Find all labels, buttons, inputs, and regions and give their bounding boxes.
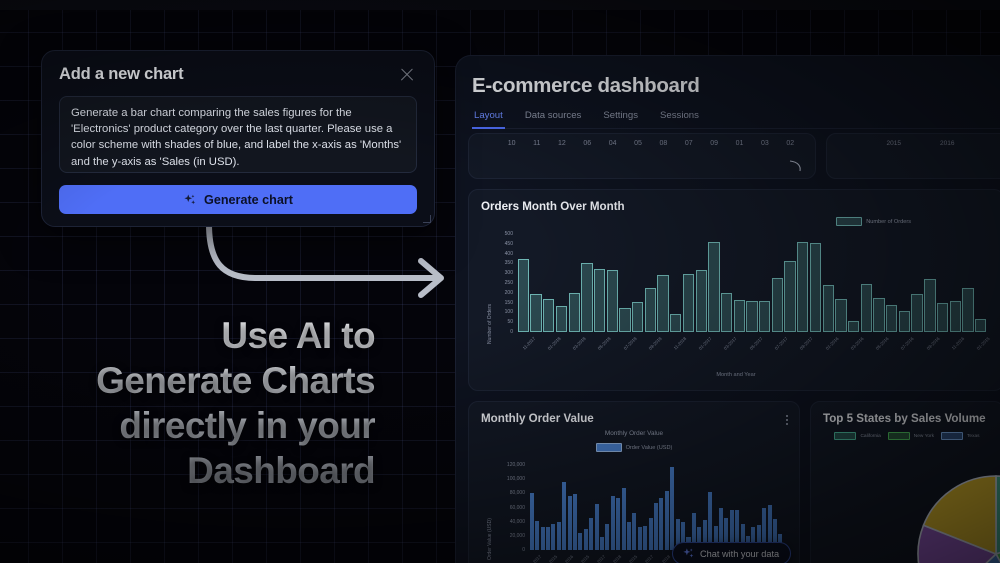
bar: [873, 298, 884, 332]
headline-line-1: Use AI to: [45, 313, 375, 358]
x-tick: [763, 336, 773, 346]
bar: [810, 243, 821, 332]
legend-swatch-new-york: [888, 432, 910, 440]
x-tick: 11-2018: [673, 336, 688, 351]
month-tick: 07: [685, 140, 693, 147]
y-tick: 80,000: [481, 490, 525, 496]
bar: [886, 305, 897, 332]
month-tick: 01: [736, 140, 744, 147]
chart-subtitle-order-value: Monthly Order Value: [481, 430, 787, 437]
bar: [937, 303, 948, 332]
bar: [759, 301, 770, 332]
x-tick: 07-2016: [900, 336, 915, 351]
bar: [696, 270, 707, 332]
card-title-top-states: Top 5 States by Sales Volume: [823, 412, 991, 425]
month-tick: 11: [533, 140, 540, 147]
month-tick: 02: [786, 140, 794, 147]
x-tick: 09-2017: [799, 336, 814, 351]
legend-swatch-number-of-orders: [836, 217, 862, 226]
bar: [861, 284, 872, 332]
x-tick: [889, 336, 899, 346]
sparkline-curve-icon: [789, 160, 803, 172]
bar: [645, 288, 656, 332]
bar: [518, 259, 529, 332]
card-orders-month-over-month: Orders Month Over Month Number of Orders…: [468, 189, 1000, 391]
generate-chart-label: Generate chart: [204, 193, 293, 207]
x-tick: [637, 336, 647, 346]
x-tick: 11-2017: [522, 336, 537, 351]
bar: [950, 301, 961, 332]
legend-item: Order Value (USD): [596, 443, 673, 452]
bars-orders: [517, 234, 987, 332]
year-tick-list: 2015 2016: [827, 138, 1000, 149]
x-tick: 03-2018: [572, 336, 587, 351]
legend-swatch-california: [834, 432, 856, 440]
bar: [622, 488, 626, 550]
bar: [670, 467, 674, 551]
bar: [569, 293, 580, 332]
bar: [797, 242, 808, 332]
sparkles-icon: [183, 193, 197, 207]
tab-sessions[interactable]: Sessions: [658, 106, 701, 129]
y-tick: 150: [481, 300, 513, 306]
legend-item: Texas: [941, 432, 980, 440]
y-tick: 100: [481, 309, 513, 315]
legend-order-value: Order Value (USD): [481, 443, 787, 452]
bar: [619, 308, 630, 332]
bar: [654, 503, 658, 550]
x-tick: [788, 336, 798, 346]
x-tick: 01-2018: [547, 336, 562, 351]
y-tick: 200: [481, 290, 513, 296]
bar: [589, 518, 593, 550]
month-tick: 08: [660, 140, 668, 147]
tab-data-sources[interactable]: Data sources: [523, 106, 584, 129]
month-tick: 10: [508, 140, 516, 147]
y-tick: 450: [481, 241, 513, 247]
pie-chart-top-states: [896, 454, 1000, 563]
bar: [594, 269, 605, 332]
bar: [600, 537, 604, 550]
x-tick: [586, 336, 596, 346]
bar: [746, 301, 757, 332]
bar: [823, 285, 834, 332]
x-tick: 03-2017: [723, 336, 738, 351]
bar: [734, 300, 745, 332]
month-tick: 05: [634, 140, 642, 147]
tab-layout[interactable]: Layout: [472, 106, 505, 129]
dashboard-title: E-commerce dashboard: [472, 74, 1000, 98]
x-tick: 05-2016: [875, 336, 890, 351]
legend-item: Number of Orders: [836, 217, 911, 226]
legend-swatch-texas: [941, 432, 963, 440]
month-tick: 03: [761, 140, 769, 147]
plot-orders: Number of Orders 05010015020025030035040…: [481, 226, 991, 381]
dashboard-panel: E-commerce dashboard Layout Data sources…: [455, 55, 1000, 563]
bar: [546, 527, 550, 550]
legend-label-california: California: [860, 434, 880, 439]
y-tick: 100,000: [481, 476, 525, 482]
bottom-card-row: Monthly Order Value Monthly Order Value …: [468, 401, 1000, 563]
bar: [616, 498, 620, 550]
card-month-ticks[interactable]: 10 11 12 06 04 05 08 07 09 01 03 02: [468, 133, 816, 179]
bar: [584, 529, 588, 550]
x-tick: 11-2016: [950, 336, 965, 351]
bar: [911, 294, 922, 332]
bar: [638, 527, 642, 550]
legend-item: New York: [888, 432, 934, 440]
x-tick: 01-2016: [824, 336, 839, 351]
month-tick-list: 10 11 12 06 04 05 08 07 09 01 03 02: [469, 138, 815, 147]
bar: [557, 522, 561, 550]
y-tick: 500: [481, 231, 513, 237]
tab-settings[interactable]: Settings: [601, 106, 640, 129]
bar: [535, 521, 539, 550]
chat-with-your-data-button[interactable]: Chat with your data: [672, 542, 791, 563]
y-tick: 50: [481, 319, 513, 325]
y-tick: 0: [481, 547, 525, 553]
chat-pill-label: Chat with your data: [700, 549, 779, 559]
bar: [899, 311, 910, 332]
x-tick: [535, 336, 545, 346]
x-tick: 07-2018: [622, 336, 637, 351]
sparkles-icon: [682, 547, 695, 560]
month-tick: 09: [710, 140, 718, 147]
month-tick: 04: [609, 140, 617, 147]
headline-line-3: directly in your: [45, 403, 375, 448]
x-tick: 03-2016: [850, 336, 865, 351]
legend-item: California: [834, 432, 880, 440]
x-tick: [611, 336, 621, 346]
bar: [657, 275, 668, 332]
bar: [665, 491, 669, 550]
bar: [556, 306, 567, 332]
modal-header: Add a new chart: [59, 65, 417, 85]
marketing-headline: Use AI to Generate Charts directly in yo…: [45, 313, 375, 493]
x-tick: [813, 336, 823, 346]
x-tick: 01-2017: [698, 336, 713, 351]
card-title-order-value: Monthly Order Value: [481, 412, 787, 425]
legend-orders: Number of Orders: [481, 217, 991, 226]
generate-chart-button[interactable]: Generate chart: [59, 185, 417, 214]
year-tick: 2016: [940, 140, 954, 147]
headline-line-4: Dashboard: [45, 448, 375, 493]
y-tick: 60,000: [481, 505, 525, 511]
dashboard-tabs: Layout Data sources Settings Sessions: [472, 106, 1000, 129]
month-tick: 06: [583, 140, 591, 147]
bar: [659, 498, 663, 550]
bar: [578, 533, 582, 550]
y-tick: 20,000: [481, 533, 525, 539]
strip-row: 10 11 12 06 04 05 08 07 09 01 03 02 2015…: [468, 133, 1000, 179]
bar: [683, 274, 694, 332]
bar: [551, 524, 555, 550]
bar: [632, 302, 643, 332]
kebab-dot: [786, 423, 788, 425]
bar: [708, 242, 719, 332]
bar: [848, 321, 859, 332]
close-icon[interactable]: [397, 65, 417, 85]
x-tick: [864, 336, 874, 346]
bar: [772, 278, 783, 332]
x-tick: [662, 336, 672, 346]
card-monthly-order-value: Monthly Order Value Monthly Order Value …: [468, 401, 800, 563]
top-band: [0, 0, 1000, 10]
x-tick: 07-2017: [774, 336, 789, 351]
bar: [562, 482, 566, 550]
bar: [573, 494, 577, 550]
x-tick: [914, 336, 924, 346]
bar: [607, 270, 618, 332]
x-tick: [737, 336, 747, 346]
bar: [541, 527, 545, 550]
y-tick: 250: [481, 280, 513, 286]
bar: [632, 513, 636, 550]
kebab-menu-icon[interactable]: [786, 413, 788, 427]
x-tick: [964, 336, 974, 346]
bar: [611, 496, 615, 550]
x-axis-label-orders: Month and Year: [481, 372, 991, 378]
textarea-resize-handle[interactable]: [423, 215, 431, 223]
x-tick: 01-2015: [976, 336, 991, 351]
bar: [627, 522, 631, 550]
bar: [581, 263, 592, 332]
bar: [595, 504, 599, 550]
bar: [784, 261, 795, 332]
legend-label-texas: Texas: [967, 434, 980, 439]
x-tick: 09-2016: [925, 336, 940, 351]
bar: [924, 279, 935, 332]
legend-label-order-value: Order Value (USD): [626, 445, 673, 451]
y-tick: 400: [481, 251, 513, 257]
y-tick: 350: [481, 260, 513, 266]
bar: [835, 299, 846, 332]
x-tick: [838, 336, 848, 346]
bar: [530, 294, 541, 332]
bar: [605, 524, 609, 550]
x-tick: [712, 336, 722, 346]
card-title-orders: Orders Month Over Month: [481, 200, 991, 213]
bar: [962, 288, 973, 332]
bar: [670, 314, 681, 332]
headline-line-2: Generate Charts: [45, 358, 375, 403]
legend-top-states: California New York Texas: [823, 432, 991, 440]
bar: [975, 319, 986, 332]
y-tick: 300: [481, 270, 513, 276]
bars-order-value: [529, 458, 783, 550]
x-tick: [939, 336, 949, 346]
bar: [721, 293, 732, 332]
legend-label-number-of-orders: Number of Orders: [866, 219, 911, 225]
x-tick: [687, 336, 697, 346]
x-tick: [561, 336, 571, 346]
kebab-dot: [786, 419, 788, 421]
modal-title: Add a new chart: [59, 65, 183, 84]
year-tick: 2015: [887, 140, 901, 147]
card-top-states: Top 5 States by Sales Volume California …: [810, 401, 1000, 563]
bar: [643, 526, 647, 550]
add-chart-modal: Add a new chart Generate a bar chart com…: [41, 50, 435, 227]
bar: [530, 493, 534, 550]
x-tick: 05-2018: [597, 336, 612, 351]
y-tick: 0: [481, 329, 513, 335]
x-tick: 09-2018: [648, 336, 663, 351]
prompt-input[interactable]: Generate a bar chart comparing the sales…: [59, 96, 417, 173]
x-axis-ticks-orders: 11-201701-201803-201805-201807-201809-20…: [517, 336, 987, 341]
kebab-dot: [786, 415, 788, 417]
legend-swatch-order-value: [596, 443, 622, 452]
card-year-ticks[interactable]: 2015 2016: [826, 133, 1000, 179]
bar: [649, 518, 653, 550]
y-tick: 40,000: [481, 519, 525, 525]
month-tick: 12: [558, 140, 566, 147]
bar: [543, 299, 554, 332]
y-tick: 120,000: [481, 462, 525, 468]
bar: [568, 496, 572, 550]
legend-label-new-york: New York: [914, 434, 934, 439]
x-tick: 05-2017: [748, 336, 763, 351]
curved-arrow-right-icon: [196, 216, 456, 320]
